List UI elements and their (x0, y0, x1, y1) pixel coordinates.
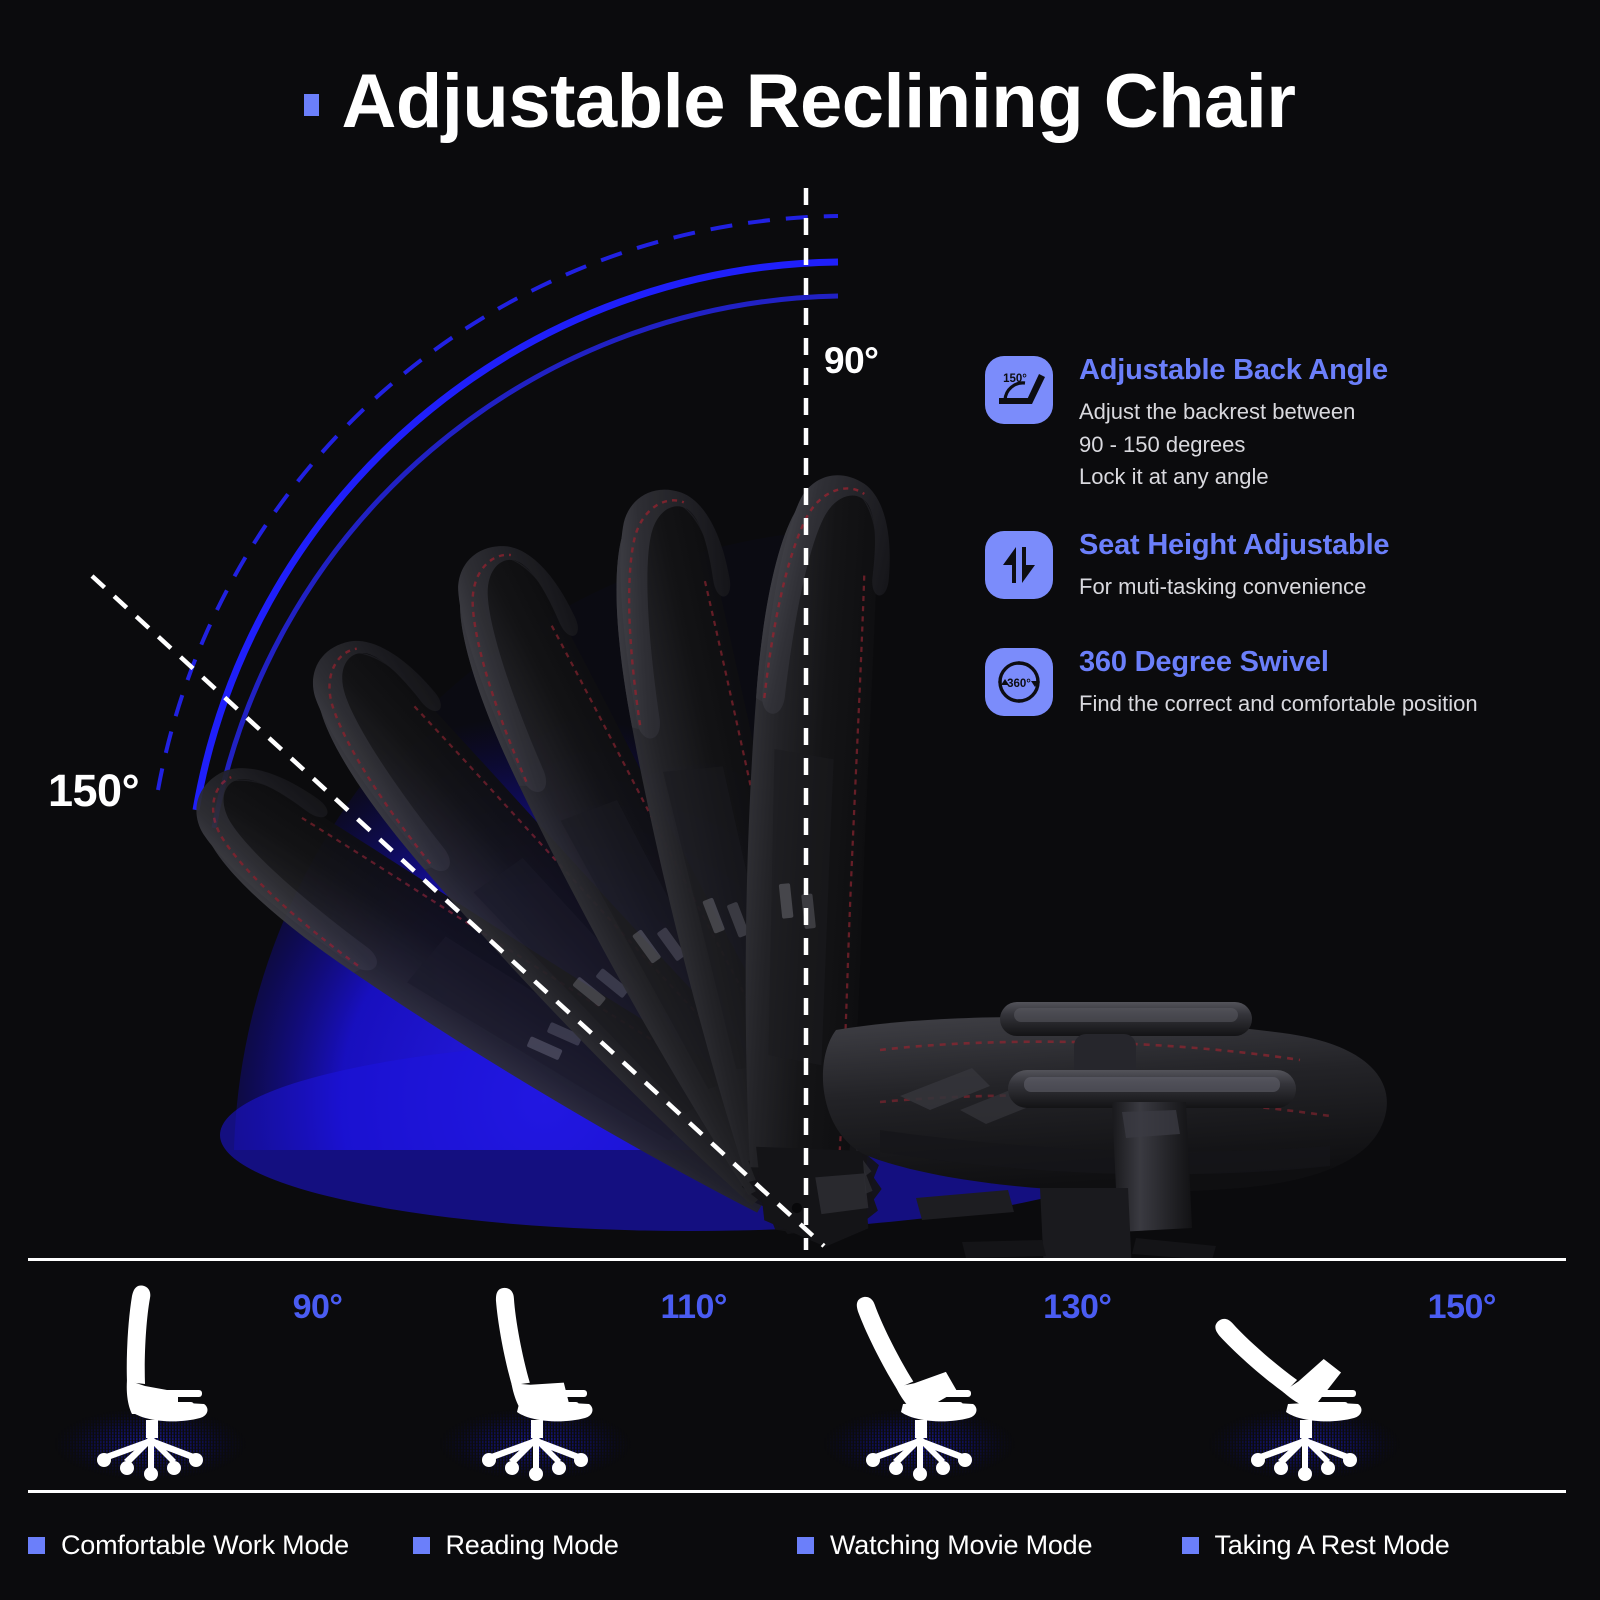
feature-360-degree-swivel: 360° 360 Degree Swivel Find the correct … (985, 644, 1585, 721)
feature-desc-line: Adjust the backrest between (1079, 396, 1388, 427)
chair-silhouette-150 (1182, 1264, 1567, 1488)
mode-cell-90: 90° (28, 1264, 413, 1488)
mode-caption-watching-movie: Watching Movie Mode (797, 1530, 1182, 1561)
title-bullet-icon (304, 94, 319, 116)
mode-strip: 90° (0, 1258, 1600, 1503)
height-adjust-icon (985, 531, 1053, 599)
feature-desc-line: Find the correct and comfortable positio… (1079, 688, 1478, 719)
feature-desc-line: 90 - 150 degrees (1079, 429, 1388, 460)
feature-title: 360 Degree Swivel (1079, 646, 1478, 679)
angle-label-150: 150° (48, 768, 139, 813)
caption-label: Reading Mode (446, 1530, 619, 1561)
feature-desc-line: Lock it at any angle (1079, 461, 1388, 492)
mode-cell-130: 130° (797, 1264, 1182, 1488)
mode-angle-label: 110° (661, 1290, 727, 1324)
chair-silhouette-90 (28, 1264, 413, 1488)
feature-desc-line: For muti-tasking convenience (1079, 571, 1389, 602)
strip-divider-bottom (28, 1490, 1566, 1493)
strip-divider-top (28, 1258, 1566, 1261)
chair-silhouette-130 (797, 1264, 1182, 1488)
feature-adjustable-back-angle: 150° Adjustable Back Angle Adjust the ba… (985, 352, 1585, 493)
chair-silhouette-110 (413, 1264, 798, 1488)
mode-caption-row: Comfortable Work Mode Reading Mode Watch… (28, 1520, 1566, 1570)
chair-seat-assembly (823, 1002, 1387, 1260)
feature-description: Find the correct and comfortable positio… (1079, 688, 1478, 719)
mode-angle-label: 90° (293, 1290, 343, 1324)
feature-title: Adjustable Back Angle (1079, 354, 1388, 387)
recline-angle-icon: 150° (985, 356, 1053, 424)
feature-description: Adjust the backrest between 90 - 150 deg… (1079, 396, 1388, 492)
page-title: Adjustable Reclining Chair (341, 64, 1295, 140)
mode-caption-comfortable-work: Comfortable Work Mode (28, 1530, 413, 1561)
swivel-360-icon: 360° (985, 648, 1053, 716)
mode-angle-label: 130° (1043, 1290, 1111, 1324)
caption-bullet-icon (797, 1537, 814, 1554)
mode-cell-150: 150° (1182, 1264, 1567, 1488)
feature-title: Seat Height Adjustable (1079, 529, 1389, 562)
caption-bullet-icon (1182, 1537, 1199, 1554)
caption-label: Watching Movie Mode (830, 1530, 1092, 1561)
mode-cell-110: 110° (413, 1264, 798, 1488)
feature-seat-height-adjustable: Seat Height Adjustable For muti-tasking … (985, 527, 1585, 604)
svg-text:360°: 360° (1007, 678, 1031, 690)
mode-caption-reading: Reading Mode (413, 1530, 798, 1561)
caption-bullet-icon (28, 1537, 45, 1554)
mode-caption-taking-a-rest: Taking A Rest Mode (1182, 1530, 1567, 1561)
feature-description: For muti-tasking convenience (1079, 571, 1389, 602)
mode-angle-label: 150° (1428, 1290, 1496, 1324)
page-title-row: Adjustable Reclining Chair (0, 52, 1600, 152)
angle-label-90: 90° (824, 342, 878, 379)
feature-list: 150° Adjustable Back Angle Adjust the ba… (985, 352, 1585, 720)
caption-label: Taking A Rest Mode (1215, 1530, 1450, 1561)
svg-text:150°: 150° (1003, 373, 1027, 385)
caption-bullet-icon (413, 1537, 430, 1554)
caption-label: Comfortable Work Mode (61, 1530, 349, 1561)
